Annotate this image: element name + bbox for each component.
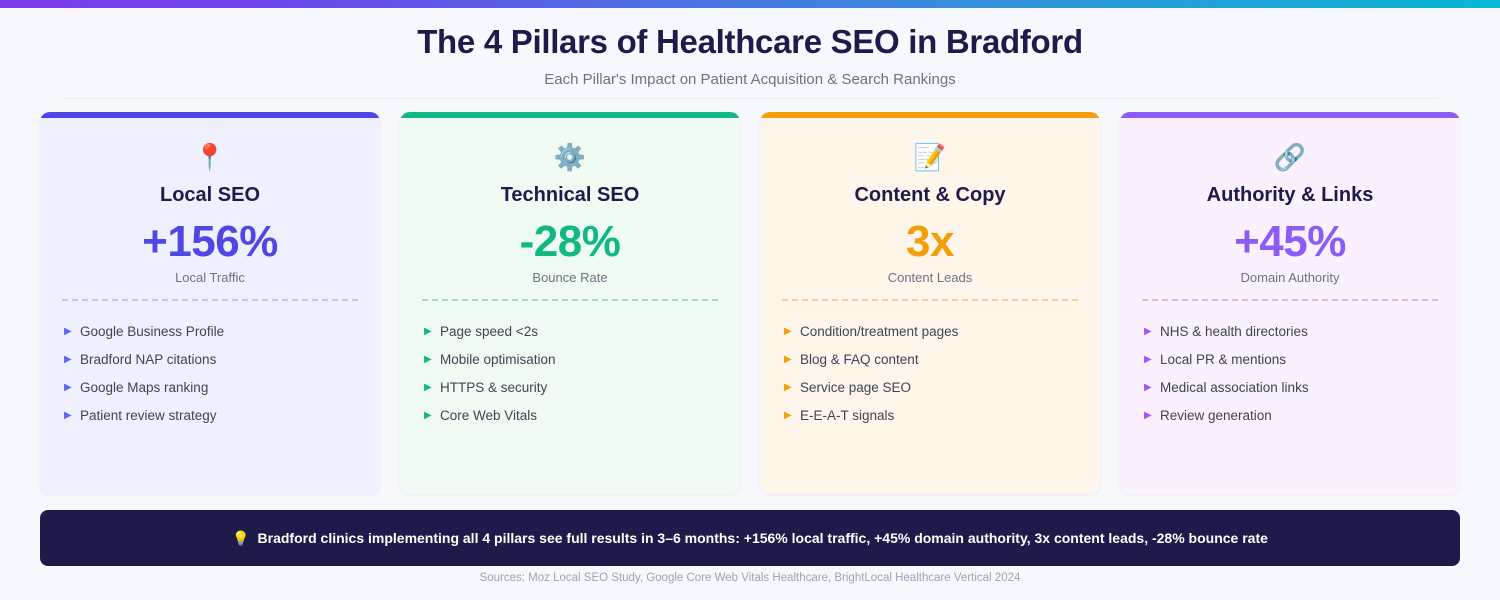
card-feature-list: ▶Google Business Profile ▶Bradford NAP c… <box>62 323 358 435</box>
list-item-label: Condition/treatment pages <box>800 323 1078 341</box>
list-item: ▶Blog & FAQ content <box>782 351 1078 369</box>
list-item-label: Local PR & mentions <box>1160 351 1438 369</box>
card-metric-label: Bounce Rate <box>422 269 718 286</box>
page-subtitle: Each Pillar's Impact on Patient Acquisit… <box>0 70 1500 90</box>
list-item: ▶Condition/treatment pages <box>782 323 1078 341</box>
list-item: ▶Medical association links <box>1142 379 1438 397</box>
list-item: ▶Patient review strategy <box>62 407 358 425</box>
light-bulb-icon: 💡 <box>232 529 249 547</box>
triangle-bullet-icon: ▶ <box>1142 351 1160 369</box>
list-item: ▶Page speed <2s <box>422 323 718 341</box>
card-feature-list: ▶Page speed <2s ▶Mobile optimisation ▶HT… <box>422 323 718 435</box>
card-metric-value: 3x <box>782 216 1078 268</box>
list-item: ▶Google Maps ranking <box>62 379 358 397</box>
card-metric-value: +156% <box>62 216 358 268</box>
card-dashed-divider <box>422 299 718 301</box>
gear-icon: ⚙️ <box>422 142 718 172</box>
card-title: Content & Copy <box>782 182 1078 208</box>
card-feature-list: ▶Condition/treatment pages ▶Blog & FAQ c… <box>782 323 1078 435</box>
triangle-bullet-icon: ▶ <box>422 351 440 369</box>
list-item-label: Patient review strategy <box>80 407 358 425</box>
triangle-bullet-icon: ▶ <box>62 323 80 341</box>
triangle-bullet-icon: ▶ <box>62 379 80 397</box>
list-item: ▶E-E-A-T signals <box>782 407 1078 425</box>
header: The 4 Pillars of Healthcare SEO in Bradf… <box>0 8 1500 90</box>
pillar-cards-row: 📍 Local SEO +156% Local Traffic ▶Google … <box>40 112 1460 494</box>
list-item: ▶Review generation <box>1142 407 1438 425</box>
list-item: ▶Service page SEO <box>782 379 1078 397</box>
triangle-bullet-icon: ▶ <box>782 323 800 341</box>
list-item-label: Page speed <2s <box>440 323 718 341</box>
card-dashed-divider <box>1142 299 1438 301</box>
triangle-bullet-icon: ▶ <box>782 351 800 369</box>
list-item-label: E-E-A-T signals <box>800 407 1078 425</box>
triangle-bullet-icon: ▶ <box>782 379 800 397</box>
list-item-label: Bradford NAP citations <box>80 351 358 369</box>
pillar-card-authority-links[interactable]: 🔗 Authority & Links +45% Domain Authorit… <box>1120 112 1460 494</box>
list-item-label: Service page SEO <box>800 379 1078 397</box>
card-body: ⚙️ Technical SEO -28% Bounce Rate ▶Page … <box>400 118 740 494</box>
triangle-bullet-icon: ▶ <box>782 407 800 425</box>
list-item-label: Medical association links <box>1160 379 1438 397</box>
triangle-bullet-icon: ▶ <box>62 351 80 369</box>
link-icon: 🔗 <box>1142 142 1438 172</box>
list-item-label: Google Business Profile <box>80 323 358 341</box>
list-item-label: Core Web Vitals <box>440 407 718 425</box>
list-item-label: Mobile optimisation <box>440 351 718 369</box>
card-metric-value: +45% <box>1142 216 1438 268</box>
list-item-label: Blog & FAQ content <box>800 351 1078 369</box>
summary-banner: 💡 Bradford clinics implementing all 4 pi… <box>40 510 1460 566</box>
pillar-card-technical-seo[interactable]: ⚙️ Technical SEO -28% Bounce Rate ▶Page … <box>400 112 740 494</box>
card-body: 🔗 Authority & Links +45% Domain Authorit… <box>1120 118 1460 494</box>
header-divider <box>62 98 1438 99</box>
card-title: Local SEO <box>62 182 358 208</box>
triangle-bullet-icon: ▶ <box>1142 323 1160 341</box>
card-dashed-divider <box>782 299 1078 301</box>
triangle-bullet-icon: ▶ <box>422 407 440 425</box>
triangle-bullet-icon: ▶ <box>422 323 440 341</box>
triangle-bullet-icon: ▶ <box>1142 379 1160 397</box>
page-title: The 4 Pillars of Healthcare SEO in Bradf… <box>0 22 1500 62</box>
card-dashed-divider <box>62 299 358 301</box>
map-pin-icon: 📍 <box>62 142 358 172</box>
infographic-page: The 4 Pillars of Healthcare SEO in Bradf… <box>0 0 1500 600</box>
list-item-label: NHS & health directories <box>1160 323 1438 341</box>
list-item-label: Review generation <box>1160 407 1438 425</box>
list-item: ▶Mobile optimisation <box>422 351 718 369</box>
card-title: Technical SEO <box>422 182 718 208</box>
list-item: ▶HTTPS & security <box>422 379 718 397</box>
summary-banner-text: Bradford clinics implementing all 4 pill… <box>258 529 1268 547</box>
list-item: ▶Bradford NAP citations <box>62 351 358 369</box>
list-item-label: Google Maps ranking <box>80 379 358 397</box>
card-body: 📍 Local SEO +156% Local Traffic ▶Google … <box>40 118 380 494</box>
card-title: Authority & Links <box>1142 182 1438 208</box>
top-gradient-bar <box>0 0 1500 8</box>
list-item: ▶Local PR & mentions <box>1142 351 1438 369</box>
triangle-bullet-icon: ▶ <box>422 379 440 397</box>
triangle-bullet-icon: ▶ <box>1142 407 1160 425</box>
memo-icon: 📝 <box>782 142 1078 172</box>
list-item: ▶NHS & health directories <box>1142 323 1438 341</box>
card-body: 📝 Content & Copy 3x Content Leads ▶Condi… <box>760 118 1100 494</box>
card-metric-value: -28% <box>422 216 718 268</box>
triangle-bullet-icon: ▶ <box>62 407 80 425</box>
card-feature-list: ▶NHS & health directories ▶Local PR & me… <box>1142 323 1438 435</box>
card-metric-label: Local Traffic <box>62 269 358 286</box>
card-metric-label: Domain Authority <box>1142 269 1438 286</box>
pillar-card-content-copy[interactable]: 📝 Content & Copy 3x Content Leads ▶Condi… <box>760 112 1100 494</box>
card-metric-label: Content Leads <box>782 269 1078 286</box>
list-item: ▶Core Web Vitals <box>422 407 718 425</box>
sources-note: Sources: Moz Local SEO Study, Google Cor… <box>0 570 1500 586</box>
list-item-label: HTTPS & security <box>440 379 718 397</box>
list-item: ▶Google Business Profile <box>62 323 358 341</box>
pillar-card-local-seo[interactable]: 📍 Local SEO +156% Local Traffic ▶Google … <box>40 112 380 494</box>
